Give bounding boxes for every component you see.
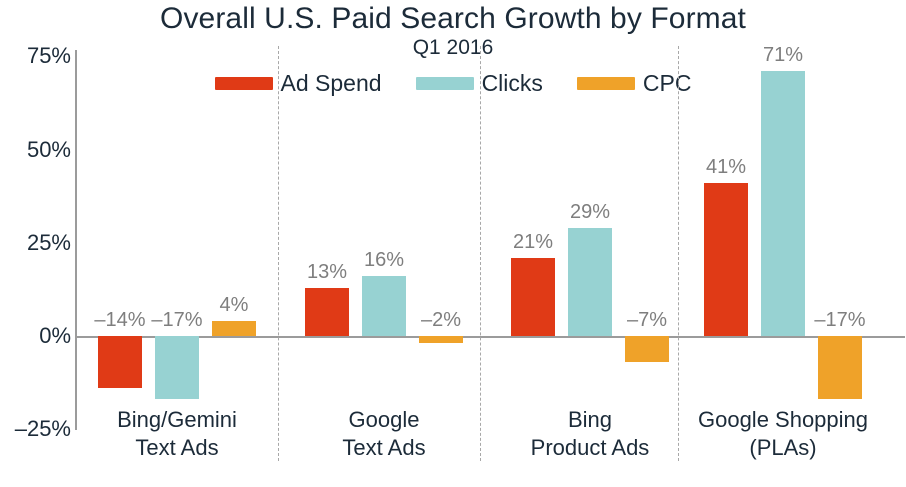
category-label-line: Product Ads [531,434,650,462]
y-tick-label: 50% [3,137,71,163]
group-separator-line [480,46,481,461]
category-label-line: Bing/Gemini [117,406,237,434]
zero-baseline [75,336,905,338]
chart-container: Overall U.S. Paid Search Growth by Forma… [0,0,906,487]
group-separator-line [278,46,279,461]
bar-value-label: –7% [627,309,667,332]
bar-cpc[interactable] [419,336,463,343]
bar-ad-spend[interactable] [305,288,349,336]
bar-cpc[interactable] [625,336,669,362]
category-label-line: Bing [531,406,650,434]
y-tick-label: –25% [3,416,71,442]
bar-value-label: 4% [220,294,249,317]
bar-ad-spend[interactable] [704,183,748,336]
bar-ad-spend[interactable] [511,258,555,336]
category-label-line: (PLAs) [698,434,868,462]
bar-value-label: 21% [513,231,553,254]
category-label-line: Text Ads [342,434,425,462]
bar-value-label: 29% [570,201,610,224]
bar-cpc[interactable] [212,321,256,336]
category-label-line: Google Shopping [698,406,868,434]
bar-clicks[interactable] [568,228,612,336]
category-label-2: BingProduct Ads [531,406,650,462]
bar-ad-spend[interactable] [98,336,142,388]
category-label-0: Bing/GeminiText Ads [117,406,237,462]
bar-value-label: –17% [151,309,202,332]
bar-cpc[interactable] [818,336,862,399]
bar-clicks[interactable] [155,336,199,399]
bar-value-label: –14% [94,309,145,332]
category-label-1: GoogleText Ads [342,406,425,462]
category-label-line: Text Ads [117,434,237,462]
y-tick-label: 0% [3,323,71,349]
category-label-line: Google [342,406,425,434]
plot-area: 75%50%25%0%–25% –14%–17%4%13%16%–2%21%29… [0,0,906,487]
bar-value-label: 13% [307,261,347,284]
group-separator-line [678,46,679,461]
bar-value-label: 16% [364,249,404,272]
bar-value-label: –17% [814,309,865,332]
bar-value-label: 41% [706,156,746,179]
bar-value-label: 71% [763,44,803,67]
bar-clicks[interactable] [362,276,406,336]
y-tick-label: 25% [3,230,71,256]
bar-value-label: –2% [421,309,461,332]
bar-clicks[interactable] [761,71,805,336]
y-axis-line [75,50,77,430]
category-label-3: Google Shopping(PLAs) [698,406,868,462]
y-tick-label: 75% [3,43,71,69]
